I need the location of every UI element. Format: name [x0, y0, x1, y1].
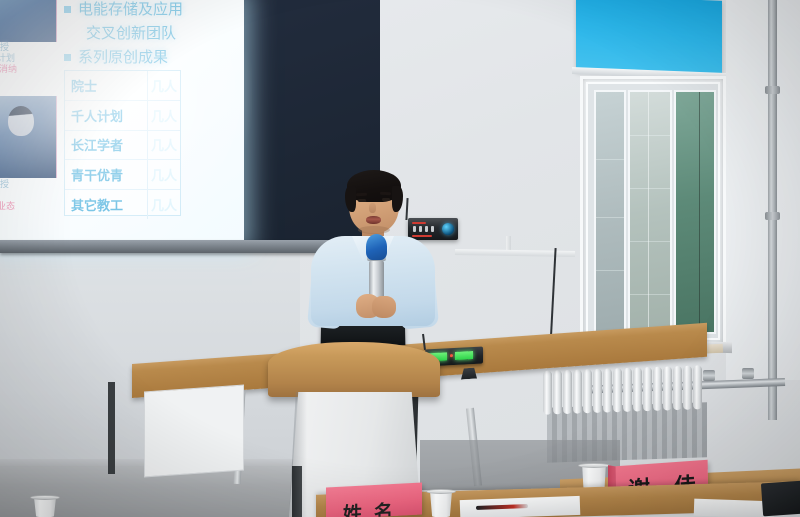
pipe-joint [703, 370, 715, 381]
right-wall-column [726, 0, 800, 380]
table-cell-label: 青干优青 [65, 160, 147, 189]
speaker-hair-side-left [345, 186, 356, 212]
table-row: 千人计划 几人 [65, 101, 180, 131]
speaker-nose [369, 203, 376, 213]
bullet-square-icon [64, 6, 71, 13]
table-cell-value: 几人 [147, 71, 180, 100]
slide-bullet-3: 系列原创成果 [64, 46, 168, 67]
wall-mounted-amplifier[interactable] [408, 218, 458, 240]
bullet-square-icon [64, 54, 71, 61]
window-pane-left [594, 90, 626, 334]
lecture-room-photo: 教授 人计划 原消纳 教授 人 新业态 电能存储及应用 交叉创新团队 系列原创成… [0, 0, 800, 517]
receiver-display-channel-2 [455, 351, 473, 360]
table-cell-label: 院士 [65, 71, 147, 100]
speaker-mouth [366, 216, 381, 224]
amplifier-volume-knob[interactable] [442, 223, 454, 235]
paper-cup [428, 492, 454, 517]
paper-cup-rim [30, 495, 60, 500]
pipe-collar [765, 212, 780, 220]
table-cell-value: 几人 [147, 131, 180, 160]
window-pane-right [674, 90, 716, 334]
window-pane-middle [628, 90, 672, 334]
table-row: 院士 几人 [65, 71, 180, 101]
slide-statistics-table: 院士 几人 千人计划 几人 长江学者 几人 青干优青 几人 其它教工 几人 [64, 70, 181, 216]
table-row: 青干优青 几人 [65, 160, 180, 190]
slide-photo-2-caption-line1: 教授 [0, 180, 9, 191]
paper-cup-rim [426, 489, 456, 494]
speaker-hand-right [372, 296, 396, 318]
pipe-joint [742, 368, 754, 379]
nameplate-left-text: 姓名 [343, 496, 405, 517]
blue-window-curtain [576, 0, 722, 77]
speaker-eye-left [358, 199, 366, 202]
slide-bullet-3-text: 系列原创成果 [78, 48, 168, 66]
pipe-collar [765, 86, 780, 94]
speaker-chin-shadow [358, 226, 390, 234]
vertical-wall-pipe [768, 0, 777, 420]
table-leg [108, 382, 115, 474]
table-cell-label: 千人计划 [65, 101, 147, 130]
cast-iron-radiator [543, 365, 703, 415]
paper-cup [32, 498, 58, 517]
slide-portrait-photo-1 [0, 0, 57, 42]
table-row: 长江学者 几人 [65, 131, 180, 161]
projected-slide: 教授 人计划 原消纳 教授 人 新业态 电能存储及应用 交叉创新团队 系列原创成… [0, 0, 244, 244]
slide-photo-1-caption-line1: 教授 [0, 43, 9, 54]
nameplate-left-foreground: 姓名 [326, 482, 422, 517]
table-cell-value: 几人 [147, 190, 180, 219]
slide-bullet-1-text: 电能存储及应用 [78, 0, 183, 18]
microphone-windscreen [366, 234, 387, 260]
door-frame [292, 466, 302, 517]
window-frame [586, 82, 720, 340]
table-cell-value: 几人 [147, 160, 180, 189]
table-row: 其它教工 几人 [65, 190, 180, 219]
slide-portrait-2-head [8, 106, 34, 136]
table-cell-label: 长江学者 [65, 131, 147, 160]
foreground-laptop[interactable] [761, 481, 800, 517]
paper-cup-rim [578, 463, 610, 468]
speaker-eyebrow-right [380, 192, 391, 195]
podium-top [268, 342, 440, 397]
speaker-eye-right [382, 198, 390, 201]
table-modesty-panel [144, 385, 244, 478]
slide-photo-1-caption-line3: 原消纳 [0, 65, 17, 76]
slide-photo-1-caption-line2: 人计划 [0, 54, 15, 65]
table-cell-value: 几人 [147, 101, 180, 130]
receiver-power-led-icon [450, 354, 453, 357]
slide-bullet-2: 交叉创新团队 [86, 22, 176, 43]
slide-bullet-1: 电能存储及应用 [64, 0, 183, 19]
slide-photo-2-caption-line3: 新业态 [0, 202, 15, 213]
table-cell-label: 其它教工 [65, 190, 147, 219]
